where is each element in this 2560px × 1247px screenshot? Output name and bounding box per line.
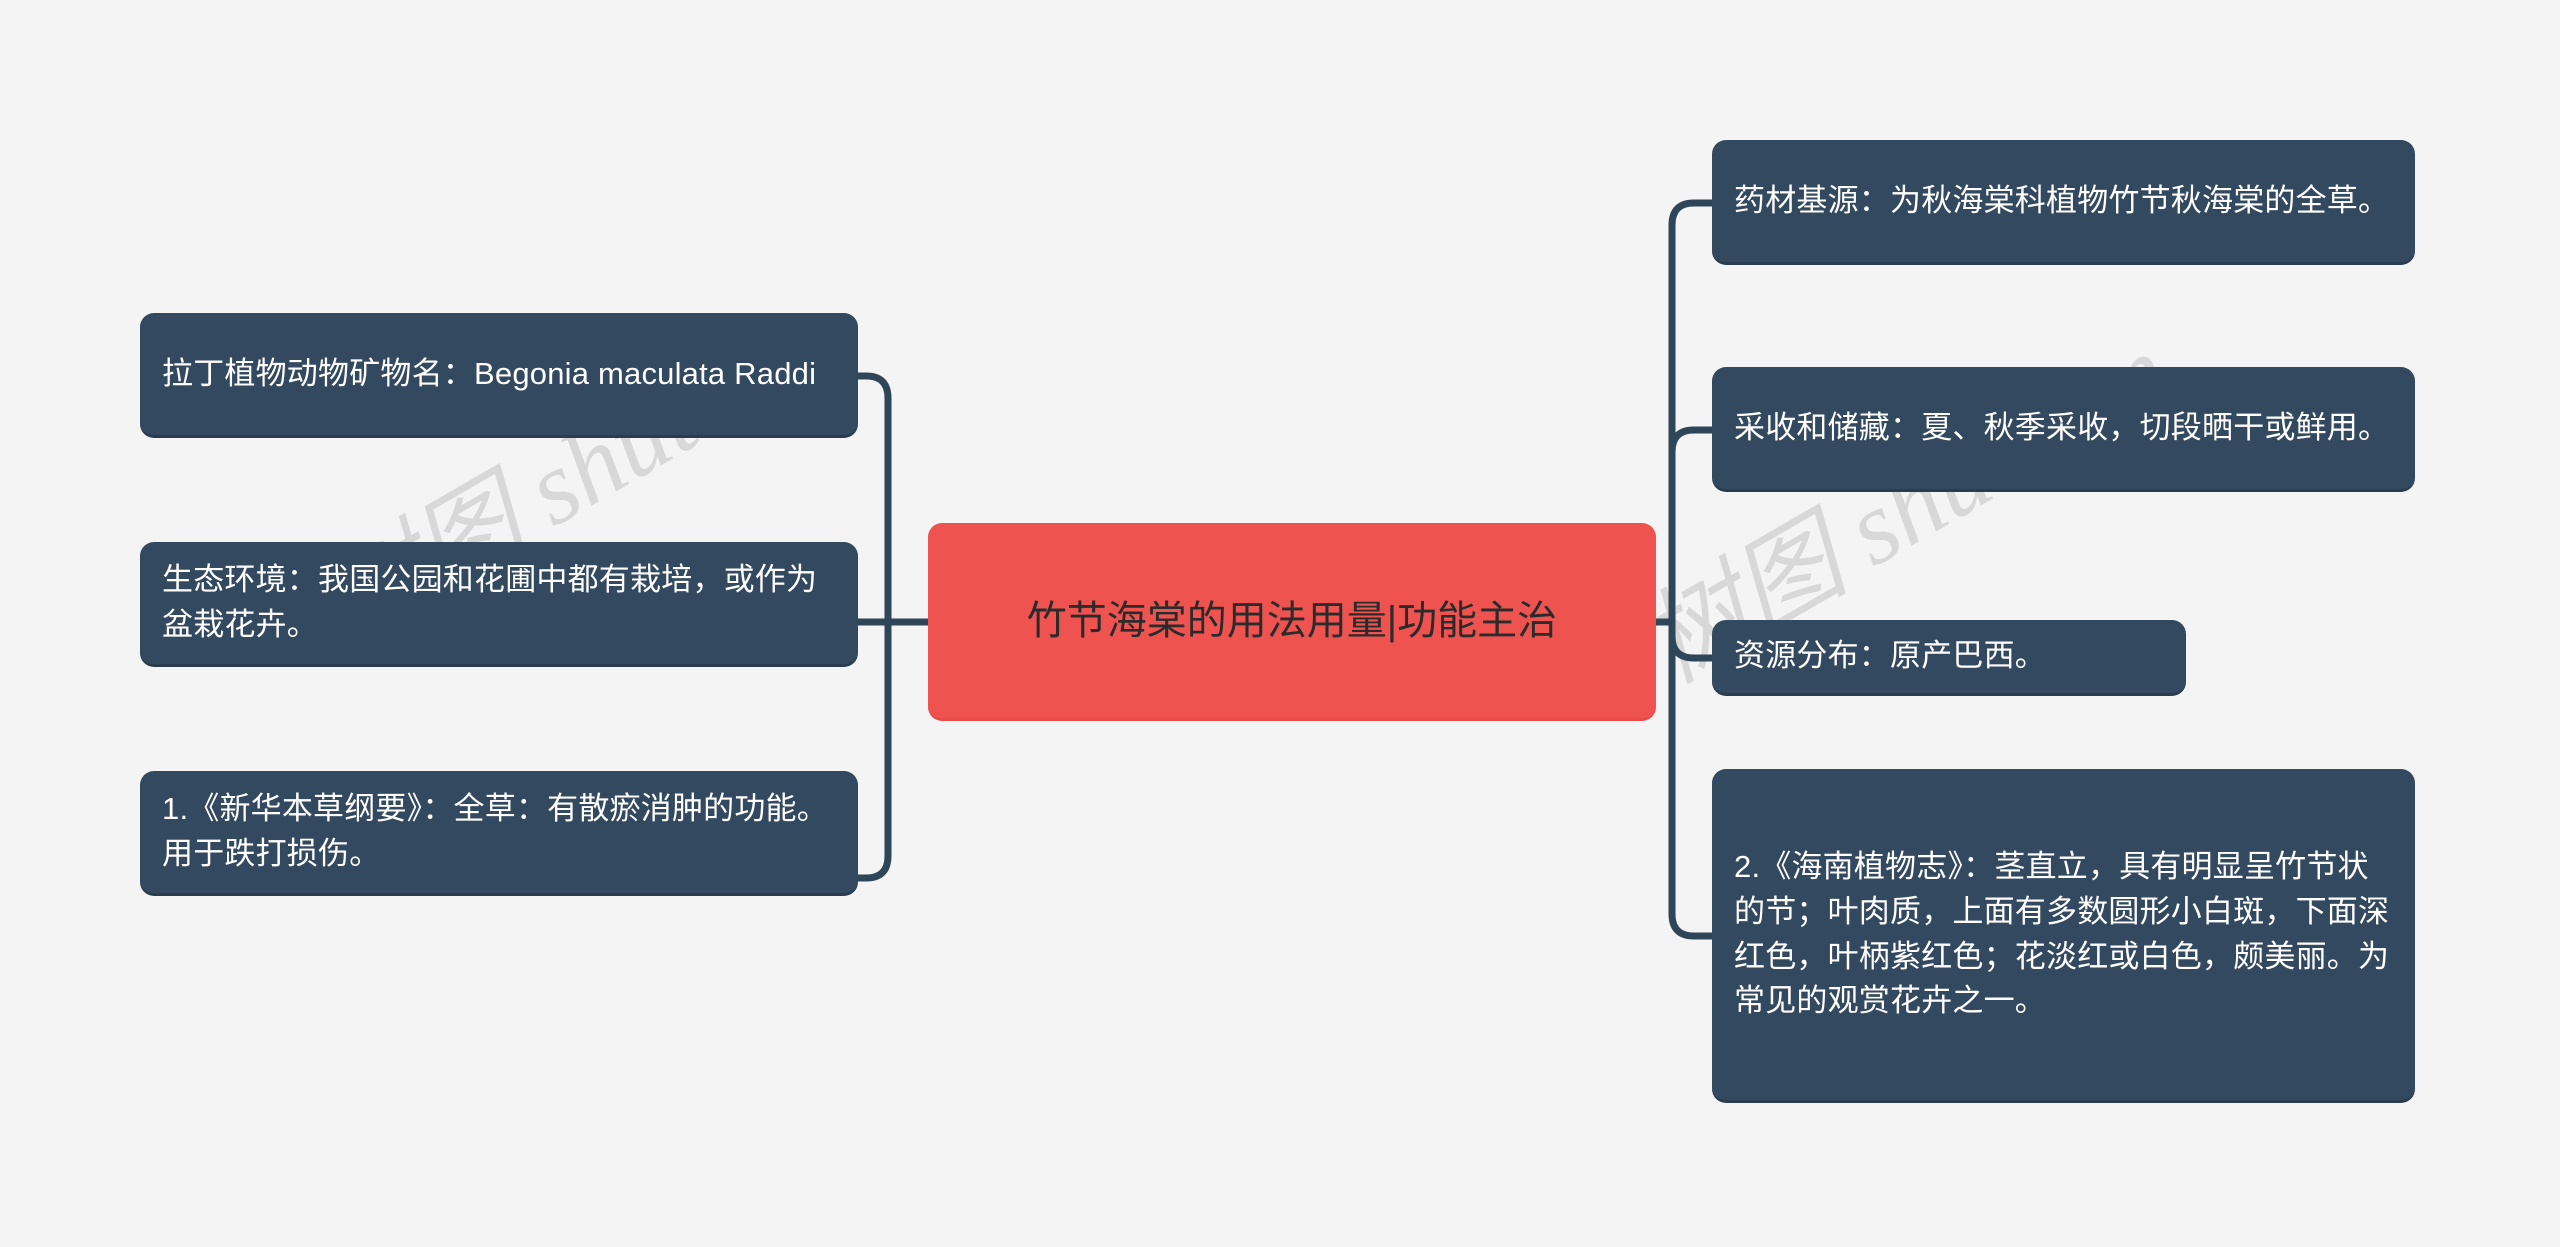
branch-node-distribution-label: 资源分布：原产巴西。 [1734,634,2164,679]
branch-node-harvest[interactable]: 采收和储藏：夏、秋季采收，切段晒干或鲜用。 [1712,367,2415,492]
branch-node-latin-name-label: 拉丁植物动物矿物名：Begonia maculata Raddi [162,352,836,397]
branch-node-reference-2[interactable]: 2.《海南植物志》：茎直立，具有明显呈竹节状的节；叶肉质，上面有多数圆形小白斑，… [1712,769,2415,1103]
connector-left-to-latin-name [858,376,888,622]
connector-right-to-reference-2 [1672,622,1712,936]
branch-node-reference-1-label: 1.《新华本草纲要》：全草：有散瘀消肿的功能。用于跌打损伤。 [162,787,836,877]
branch-node-harvest-label: 采收和储藏：夏、秋季采收，切段晒干或鲜用。 [1734,406,2393,451]
branch-node-source-label: 药材基源：为秋海棠科植物竹节秋海棠的全草。 [1734,179,2393,224]
mindmap-canvas: 树图 shutu.cn 树图 shutu.cn 拉丁植物动物矿物名：Begoni… [0,0,2560,1247]
branch-node-ecology-label: 生态环境：我国公园和花圃中都有栽培，或作为盆栽花卉。 [162,558,836,648]
branch-node-latin-name[interactable]: 拉丁植物动物矿物名：Begonia maculata Raddi [140,313,858,438]
connector-right-to-distribution [1672,622,1712,658]
branch-node-ecology[interactable]: 生态环境：我国公园和花圃中都有栽培，或作为盆栽花卉。 [140,542,858,667]
branch-node-reference-1[interactable]: 1.《新华本草纲要》：全草：有散瘀消肿的功能。用于跌打损伤。 [140,771,858,896]
branch-node-reference-2-label: 2.《海南植物志》：茎直立，具有明显呈竹节状的节；叶肉质，上面有多数圆形小白斑，… [1734,845,2393,1025]
central-node[interactable]: 竹节海棠的用法用量|功能主治 [928,523,1656,721]
central-node-label: 竹节海棠的用法用量|功能主治 [954,591,1630,651]
connector-left-to-reference-1 [858,622,888,878]
connector-right-to-harvest [1672,430,1712,622]
branch-node-source[interactable]: 药材基源：为秋海棠科植物竹节秋海棠的全草。 [1712,140,2415,265]
connector-right-to-source [1672,203,1712,622]
branch-node-distribution[interactable]: 资源分布：原产巴西。 [1712,620,2186,696]
